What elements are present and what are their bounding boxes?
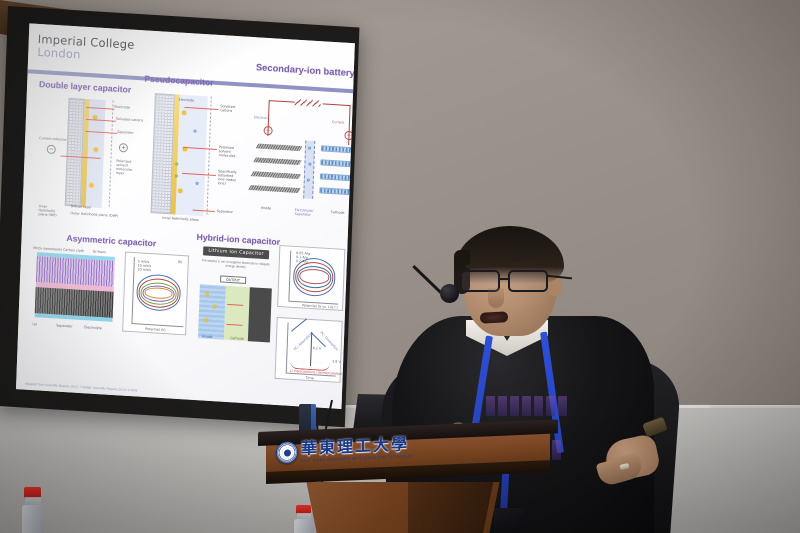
sib-label-current: Current [332,120,345,125]
mouth [480,311,509,323]
presentation-slide: Imperial College London Double layer cap… [16,23,355,409]
hic-cv-y-axis [288,251,290,301]
ac-label-carbon: Carbon cloth [63,248,84,253]
chart-hic-cv: 0.05 A/g 0.1 A/g 0.2 A/g Potential (V vs… [277,245,345,311]
water-bottle-left [24,487,46,533]
figure-double-layer-capacitor: − + Electrode Solvated cations Separator… [36,92,138,218]
glasses-temple [546,275,572,280]
lic-label-anode: Anode [202,334,213,339]
screen-surface: Imperial College London Double layer cap… [16,23,355,409]
figure-asymmetric-material: MnO₂ nanosheets Carbon cloth Ni foam (a)… [30,246,119,337]
pc-solvent-ion [196,182,199,185]
dlc-label-ihp: Inner Helmholtz plane (IHP) [38,204,60,217]
print-glyph [498,396,507,416]
print-glyph [510,396,519,416]
pc-label-cations: Solvated cations [220,104,242,113]
presentation-photo: Imperial College London Double layer cap… [0,0,800,533]
water-bottle-right [296,505,318,533]
gal-charge-line [291,318,307,331]
cv-legend-3: 20 mV/s [137,267,151,272]
lic-label-cathode: Cathode [230,336,244,341]
lic-ion [205,319,208,322]
seal-core [282,447,293,458]
lic-electrolyte [224,286,250,341]
microphone-head [440,284,459,303]
lic-anode [198,284,226,340]
dlc-label-electrode: Electrode [114,105,130,110]
dlc-ion [94,147,98,151]
sib-ion [308,147,311,150]
sib-wire [269,100,295,103]
pc-label-separator: Separator [217,209,233,214]
cv-panel-tag: (b) [178,260,183,264]
bottle-body [294,519,314,533]
hic-cv-legend-3: 0.2 A/g [296,259,308,264]
lens-right [508,270,548,292]
sib-ion [307,179,310,182]
sib-ion [308,163,311,166]
pc-ion [182,111,186,115]
sib-label-cathode: Cathode [331,210,345,215]
sib-wire [323,103,351,106]
dlc-ion [89,183,93,187]
print-glyph [534,396,543,416]
sib-resistor [295,98,321,109]
sib-negative-terminal: − [263,126,272,136]
sib-cathode-layer [320,173,355,181]
pc-label-electrode: Electrode [179,98,195,103]
nose [488,288,504,308]
dlc-positive-terminal: + [119,143,128,153]
cv-x-axis [131,323,183,327]
gal-annotation-6: 3.8 V [332,359,341,364]
dlc-label-diffuse: Diffuse layer [71,204,92,209]
sib-anode-layer [256,144,303,152]
print-glyph-row [466,396,586,416]
dlc-label-collector: Current collector [39,136,67,142]
print-glyph [486,396,495,416]
pc-redox-ion [175,174,178,177]
figure-pseudocapacitor: Electrode Solvated cations Polarized sol… [140,87,245,227]
heading-pseudocapacitor: Pseudocapacitor [144,73,214,87]
sib-label-anode: Anode [261,206,272,211]
gal-x-label: Time [306,376,314,380]
ac-label-a: (a) [32,322,37,326]
glasses-bridge [500,278,508,280]
pc-label-adsorbed: Specifically adsorbed ions (redox ions) [218,169,241,186]
dlc-separator [109,101,114,209]
sib-label-electron: Electron [254,115,268,120]
sib-cathode-layer [320,159,354,167]
lic-cell [198,284,272,342]
figure-lithium-ion-capacitor: Lithium Ion Capacitor Pre-doping Li ion … [194,246,277,347]
heading-hybrid-ion-capacitor: Hybrid-ion capacitor [196,232,280,247]
dlc-label-polarized: Polarized solvent molecular layer [116,159,137,176]
lic-cathode [248,287,272,342]
print-glyph [558,396,567,416]
cv-y-axis [131,257,134,323]
gal-annotation-2: PC: Desorption [319,331,339,352]
dlc-label-ohp: Outer Helmholtz plane (OHP) [70,211,118,218]
sib-label-separator: Electrolyte/ Separator [295,208,319,217]
gal-y-axis [286,323,288,373]
pc-solvent-ion [194,130,197,133]
university-seal-icon [276,441,298,464]
pc-ion [178,189,182,193]
lic-ion [206,293,209,296]
heading-asymmetric-capacitor: Asymmetric capacitor [66,233,156,248]
print-glyph [546,396,555,416]
ac-label-nifoam: Ni foam [93,250,106,255]
sib-cathode-layer [321,145,355,153]
pc-separator [206,97,211,217]
pc-label-polarized: Polarized solvent molecules [219,145,241,158]
lic-ion [213,305,216,308]
gal-annotation-5: 4.2 V [313,346,322,351]
ac-label-electrolyte: Electrolyte [84,325,102,330]
dlc-negative-terminal: − [47,145,56,155]
print-glyph [522,396,531,416]
university-plaque: 華東理工大學 EAST CHINA UNIVERSITY OF SCIENCE … [276,432,428,468]
sib-anode-layer [248,185,301,193]
lic-banner: Lithium Ion Capacitor [203,246,269,259]
ac-label-mno2: MnO₂ nanosheets [33,246,62,252]
lic-subtitle: Pre-doping Li ion in negative electrode … [201,258,271,271]
sib-anode-layer [251,171,302,179]
cv-x-label: Potential (V) [145,327,165,332]
pc-electrolyte-band [175,95,207,217]
figure-secondary-ion-battery: − + Electron Current Ano [246,73,355,230]
dlc-label-cations: Solvated cations [116,117,143,123]
hic-cv-x-label: Potential (V vs. Li/Li⁺) [302,303,338,309]
eyeglasses [454,270,566,294]
plaque-text: 華東理工大學 EAST CHINA UNIVERSITY OF SCIENCE … [301,436,428,463]
chart-hic-galvanostatic: PC: Adsorption PC: Desorption Li interca… [275,317,343,383]
pc-label-ihp: Inner Helmholtz plane [162,216,199,222]
ac-label-separator: Separator [56,323,72,328]
pc-redox-ion [175,162,178,165]
chart-asymmetric-cv: 5 mV/s 10 mV/s 20 mV/s (b) Potential (V) [122,252,189,336]
lic-output-label: OUTPUT [220,275,246,284]
sib-anode-layer [253,157,302,165]
bottle-body [22,505,44,533]
projection-screen: Imperial College London Double layer cap… [0,6,359,427]
imperial-college-logo: Imperial College London [37,32,135,65]
dlc-label-separator: Separator [117,130,133,135]
